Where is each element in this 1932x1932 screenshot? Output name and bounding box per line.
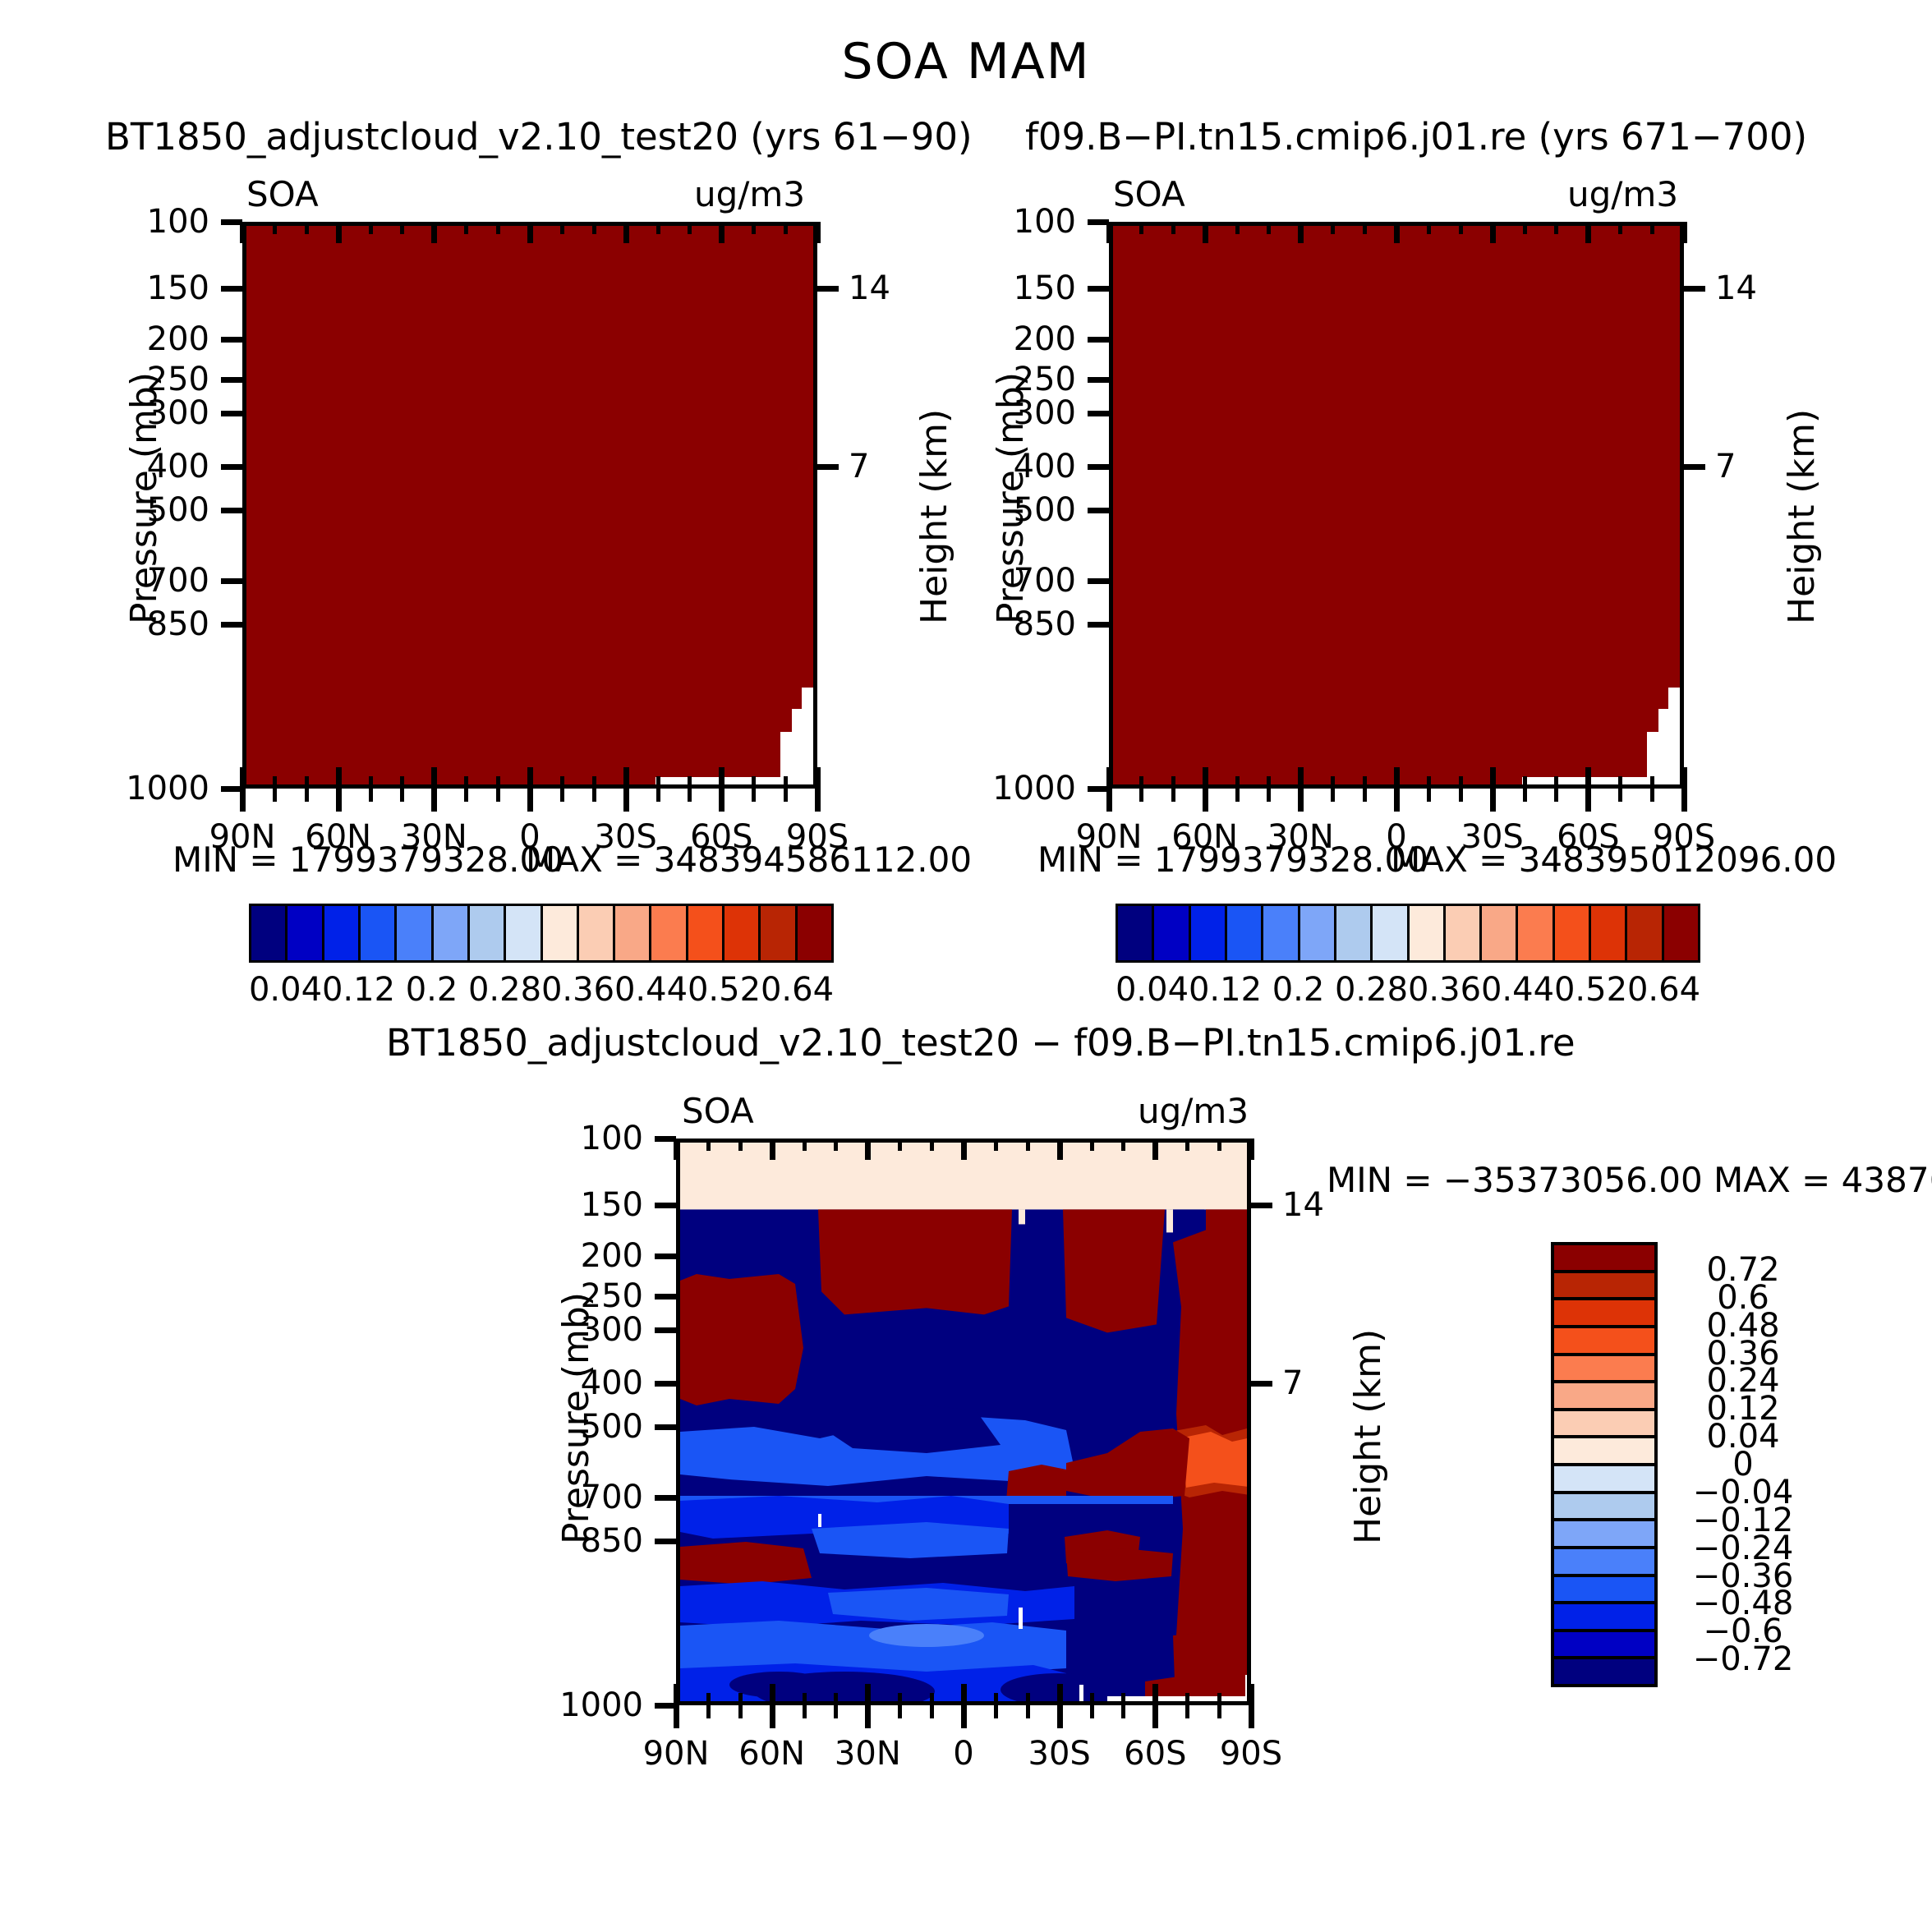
pressure-axis-tick-label: 500 (1014, 491, 1076, 529)
x-axis-minor-tick-outer (1331, 789, 1335, 802)
x-axis-minor-tick (1427, 222, 1431, 234)
x-axis-minor-tick (994, 1138, 998, 1151)
x-axis-minor-tick (706, 1138, 711, 1151)
x-axis-minor-tick (1139, 222, 1143, 234)
colorbar-swatch (615, 906, 651, 960)
x-axis-tick-label: 90S (1220, 1735, 1282, 1773)
colorbar-tick-label: 0.64 (1627, 971, 1700, 1009)
colorbar-swatch (1591, 906, 1627, 960)
diff-colorbar-labels: 0.720.60.480.360.240.120.040−0.04−0.12−0… (1661, 1242, 1825, 1687)
left-panel-terrain-mask (802, 688, 813, 784)
right-panel-terrain-mask (1658, 709, 1668, 784)
diff-panel-plot[interactable] (676, 1138, 1251, 1705)
pressure-axis-tick-label: 150 (581, 1186, 643, 1224)
pressure-axis-tick-label: 300 (581, 1311, 643, 1349)
colorbar-swatch (287, 906, 324, 960)
pressure-axis-tick-label: 300 (147, 394, 209, 432)
pressure-axis-tick (655, 1253, 676, 1259)
pressure-axis-tick (655, 1381, 676, 1387)
pressure-axis-tick-label: 150 (147, 269, 209, 307)
x-axis-tick-label: 90N (209, 818, 276, 856)
x-axis-minor-tick-outer (273, 789, 277, 802)
colorbar-tick-label: 0.36 (1408, 971, 1481, 1009)
x-axis-major-tick (961, 1138, 967, 1160)
colorbar-swatch (1554, 1604, 1654, 1632)
colorbar-swatch (651, 906, 688, 960)
colorbar-tick-label: 0.2 (406, 971, 458, 1009)
x-axis-major-tick (1152, 1138, 1158, 1160)
colorbar-tick-label: 0.52 (1554, 971, 1627, 1009)
x-axis-minor-tick (656, 222, 660, 234)
height-axis-tick (1684, 286, 1705, 292)
x-axis-minor-tick (1459, 222, 1463, 234)
x-axis-minor-tick (273, 776, 277, 789)
colorbar-swatch (1627, 906, 1663, 960)
x-axis-minor-tick (1650, 222, 1654, 234)
x-axis-tick-label: 0 (519, 818, 540, 856)
right-colorbar[interactable] (1115, 904, 1700, 963)
x-axis-tick-label: 30S (1461, 818, 1524, 856)
x-axis-minor-tick-outer (592, 789, 596, 802)
x-axis-major-tick (1249, 1684, 1254, 1705)
x-axis-minor-tick (1121, 1138, 1125, 1151)
x-axis-major-tick (815, 767, 821, 789)
colorbar-swatch (1664, 906, 1698, 960)
x-axis-minor-tick (1217, 1693, 1221, 1705)
height-axis-tick (1251, 1381, 1272, 1387)
contour-region-negative (828, 1588, 1009, 1621)
x-axis-minor-tick (1026, 1693, 1030, 1705)
pressure-axis-tick-label: 850 (147, 605, 209, 643)
colorbar-swatch (324, 906, 361, 960)
x-axis-major-tick (1203, 222, 1208, 243)
x-axis-major-tick-outer (865, 1705, 871, 1728)
x-axis-minor-tick (1363, 776, 1367, 789)
pressure-axis-tick (1088, 286, 1109, 292)
x-axis-major-tick (719, 767, 724, 789)
pressure-axis-tick-label: 200 (581, 1237, 643, 1275)
x-axis-minor-tick (656, 776, 660, 789)
pressure-axis-tick-label: 700 (1014, 562, 1076, 600)
x-axis-major-tick-outer (336, 789, 342, 812)
x-axis-major-tick-outer (1152, 1705, 1158, 1728)
x-axis-tick-label: 90S (786, 818, 849, 856)
pressure-axis-tick (655, 1424, 676, 1430)
x-axis-major-tick (1490, 767, 1496, 789)
x-axis-major-tick-outer (1106, 789, 1112, 812)
colorbar-swatch (1554, 1356, 1654, 1384)
colorbar-swatch (1191, 906, 1227, 960)
x-axis-minor-tick (496, 776, 500, 789)
x-axis-minor-tick-outer (400, 789, 404, 802)
x-axis-minor-tick-outer (1235, 789, 1240, 802)
pressure-axis-tick (1088, 337, 1109, 343)
x-axis-major-tick (770, 1138, 775, 1160)
pressure-axis-tick-label: 200 (1014, 320, 1076, 358)
diff-panel-variable-label: SOA (682, 1091, 754, 1131)
x-axis-minor-tick-outer (834, 1705, 838, 1718)
height-axis-tick (1684, 464, 1705, 470)
x-axis-tick-label: 60S (1124, 1735, 1186, 1773)
x-axis-minor-tick (1139, 776, 1143, 789)
x-axis-major-tick (527, 222, 533, 243)
pressure-axis-tick-label: 700 (147, 562, 209, 600)
x-axis-minor-tick-outer (496, 789, 500, 802)
height-axis-tick-label: 14 (1715, 269, 1757, 307)
right-panel-plot[interactable] (1109, 222, 1684, 789)
colorbar-tick-label: 0.44 (614, 971, 688, 1009)
colorbar-swatch (1300, 906, 1336, 960)
x-axis-minor-tick (1235, 776, 1240, 789)
colorbar-swatch (1554, 1466, 1654, 1494)
x-axis-major-tick (527, 767, 533, 789)
colorbar-swatch (1554, 1438, 1654, 1466)
colorbar-swatch (470, 906, 506, 960)
colorbar-swatch (1227, 906, 1263, 960)
x-axis-minor-tick (1459, 776, 1463, 789)
x-axis-minor-tick-outer (688, 789, 692, 802)
pressure-axis-tick (655, 1539, 676, 1544)
colorbar-swatch (1373, 906, 1409, 960)
x-axis-minor-tick (994, 1693, 998, 1705)
pressure-axis-tick (655, 1495, 676, 1501)
x-axis-tick-label: 30N (835, 1735, 901, 1773)
x-axis-minor-tick (688, 222, 692, 234)
x-axis-minor-tick (738, 1693, 743, 1705)
x-axis-major-tick (815, 222, 821, 243)
colorbar-swatch (1554, 1521, 1654, 1549)
colorbar-swatch (1554, 1549, 1654, 1577)
x-axis-minor-tick (273, 222, 277, 234)
pressure-axis-tick-label: 500 (581, 1408, 643, 1446)
x-axis-minor-tick (369, 222, 373, 234)
x-axis-major-tick-outer (1203, 789, 1208, 812)
x-axis-minor-tick-outer (738, 1705, 743, 1718)
x-axis-major-tick (1057, 1684, 1063, 1705)
colorbar-tick-label: 0.52 (688, 971, 761, 1009)
pressure-axis-tick (221, 286, 242, 292)
x-axis-minor-tick (1523, 222, 1527, 234)
x-axis-major-tick (865, 1684, 871, 1705)
pressure-axis-tick-label: 1000 (559, 1686, 643, 1724)
colorbar-swatch (1263, 906, 1299, 960)
x-axis-major-tick-outer (770, 1705, 775, 1728)
x-axis-minor-tick-outer (1523, 789, 1527, 802)
x-axis-minor-tick (464, 222, 468, 234)
x-axis-minor-tick (803, 1693, 807, 1705)
x-axis-major-tick (961, 1684, 967, 1705)
x-axis-major-tick (1394, 767, 1400, 789)
x-axis-tick-label: 60S (1557, 818, 1619, 856)
x-axis-major-tick (770, 1684, 775, 1705)
x-axis-major-tick (1585, 222, 1591, 243)
left-panel-plot[interactable] (242, 222, 817, 789)
pressure-axis-tick-label: 250 (581, 1277, 643, 1315)
x-axis-minor-tick-outer (1618, 789, 1622, 802)
x-axis-major-tick (1203, 767, 1208, 789)
colorbar-tick-label: 0.44 (1481, 971, 1554, 1009)
x-axis-major-tick (1585, 767, 1591, 789)
x-axis-minor-tick-outer (1090, 1705, 1094, 1718)
right-panel-terrain-mask (1522, 777, 1647, 784)
right-panel-height-axis-title: Height (km) (1781, 409, 1823, 624)
colorbar-swatch (579, 906, 615, 960)
x-axis-minor-tick-outer (1363, 789, 1367, 802)
x-axis-major-tick-outer (1490, 789, 1496, 812)
colorbar-swatch (1555, 906, 1591, 960)
x-axis-major-tick-outer (431, 789, 437, 812)
diff-panel-title: BT1850_adjustcloud_v2.10_test20 − f09.B−… (386, 1021, 1575, 1065)
pressure-axis-tick-label: 400 (581, 1364, 643, 1402)
pressure-axis-tick (1088, 411, 1109, 416)
colorbar-tick-label: −0.72 (1661, 1640, 1825, 1678)
colorbar-swatch (1118, 906, 1154, 960)
pressure-axis-tick (221, 337, 242, 343)
x-axis-minor-tick (560, 222, 564, 234)
contour-region-negative (812, 1522, 1009, 1558)
x-axis-tick-label: 60N (305, 818, 371, 856)
x-axis-minor-tick (752, 222, 756, 234)
diff-colorbar[interactable] (1551, 1242, 1658, 1687)
pressure-axis-tick (1088, 786, 1109, 792)
x-axis-minor-tick-outer (803, 1705, 807, 1718)
pressure-axis-tick (1088, 508, 1109, 513)
colorbar-tick-label: 0.04 (249, 971, 322, 1009)
pressure-axis-tick-label: 500 (147, 491, 209, 529)
contour-gap (818, 1514, 821, 1527)
x-axis-tick-label: 30S (1028, 1735, 1091, 1773)
x-axis-minor-tick-outer (1427, 789, 1431, 802)
pressure-axis-tick-label: 100 (147, 203, 209, 241)
left-panel-height-axis-title: Height (km) (913, 409, 955, 624)
diff-panel-units-label: ug/m3 (1138, 1091, 1249, 1131)
x-axis-minor-tick (1331, 776, 1335, 789)
contour-region-negative (729, 1672, 828, 1698)
x-axis-major-tick (1298, 222, 1304, 243)
terrain-mask (1107, 1696, 1247, 1704)
x-axis-minor-tick (1171, 222, 1175, 234)
x-axis-major-tick (1490, 222, 1496, 243)
pressure-axis-tick-label: 1000 (992, 770, 1076, 807)
x-axis-major-tick (431, 222, 437, 243)
x-axis-minor-tick (1331, 222, 1335, 234)
x-axis-minor-tick-outer (1650, 789, 1654, 802)
colorbar-swatch (1554, 1383, 1654, 1411)
pressure-axis-tick (221, 622, 242, 628)
x-axis-major-tick-outer (1298, 789, 1304, 812)
x-axis-minor-tick (1026, 1138, 1030, 1151)
contour-region-negative (828, 1404, 1000, 1453)
height-axis-tick-label: 14 (1282, 1186, 1324, 1224)
contour-region-negative (869, 1624, 984, 1647)
figure-title: SOA MAM (0, 33, 1932, 90)
x-axis-minor-tick (803, 1138, 807, 1151)
x-axis-minor-tick (1171, 776, 1175, 789)
height-axis-tick-label: 7 (1715, 448, 1736, 485)
right-panel-units-label: ug/m3 (1567, 174, 1678, 214)
x-axis-minor-tick-outer (1459, 789, 1463, 802)
colorbar-swatch (1518, 906, 1554, 960)
colorbar-swatch (361, 906, 397, 960)
x-axis-minor-tick (834, 1138, 838, 1151)
pressure-axis-tick-label: 1000 (126, 770, 209, 807)
pressure-axis-tick-label: 850 (1014, 605, 1076, 643)
x-axis-minor-tick (834, 1693, 838, 1705)
pressure-axis-tick (1088, 464, 1109, 470)
pressure-axis-tick-label: 250 (147, 361, 209, 398)
height-axis-tick-label: 14 (849, 269, 890, 307)
right-panel-title: f09.B−PI.tn15.cmip6.j01.re (yrs 671−700) (1025, 115, 1807, 159)
colorbar-swatch (397, 906, 433, 960)
x-axis-major-tick-outer (1394, 789, 1400, 812)
x-axis-minor-tick-outer (560, 789, 564, 802)
x-axis-minor-tick (1650, 776, 1654, 789)
x-axis-major-tick-outer (719, 789, 724, 812)
x-axis-major-tick (1152, 1684, 1158, 1705)
x-axis-major-tick (1394, 222, 1400, 243)
x-axis-major-tick-outer (527, 789, 533, 812)
x-axis-minor-tick-outer (752, 789, 756, 802)
contour-region-positive (680, 1274, 803, 1405)
pressure-axis-tick-label: 300 (1014, 394, 1076, 432)
x-axis-minor-tick-outer (1026, 1705, 1030, 1718)
x-axis-minor-tick (706, 1693, 711, 1705)
pressure-axis-tick-label: 200 (147, 320, 209, 358)
diff-panel-field (680, 1143, 1251, 1705)
left-colorbar[interactable] (249, 904, 834, 963)
x-axis-major-tick (1681, 767, 1687, 789)
x-axis-tick-label: 90N (1076, 818, 1143, 856)
height-axis-tick-label: 7 (1282, 1364, 1303, 1402)
x-axis-tick-label: 30S (595, 818, 657, 856)
x-axis-major-tick-outer (674, 1705, 679, 1728)
contour-gap (1019, 1608, 1023, 1629)
x-axis-minor-tick (898, 1138, 902, 1151)
contour-region-near-zero (1019, 1209, 1025, 1224)
colorbar-swatch (1482, 906, 1518, 960)
colorbar-swatch (761, 906, 797, 960)
colorbar-tick-label: 0.12 (322, 971, 395, 1009)
pressure-axis-tick (221, 219, 242, 225)
x-axis-major-tick (623, 767, 629, 789)
x-axis-minor-tick (400, 222, 404, 234)
contour-region-positive (1173, 1631, 1251, 1686)
pressure-axis-tick (221, 578, 242, 584)
x-axis-major-tick-outer (815, 789, 821, 812)
colorbar-tick-label: 0.36 (541, 971, 614, 1009)
x-axis-major-tick-outer (240, 789, 246, 812)
x-axis-minor-tick (1090, 1693, 1094, 1705)
x-axis-minor-tick-outer (1217, 1705, 1221, 1718)
contour-region-positive (1063, 1209, 1165, 1332)
contour-region-positive (680, 1542, 812, 1585)
colorbar-swatch (1154, 906, 1190, 960)
x-axis-tick-label: 60S (690, 818, 752, 856)
colorbar-tick-label: 0.28 (468, 971, 541, 1009)
pressure-axis-tick (1088, 578, 1109, 584)
x-axis-tick-label: 90S (1653, 818, 1715, 856)
x-axis-tick-label: 60N (738, 1735, 805, 1773)
x-axis-minor-tick (400, 776, 404, 789)
left-panel-field (246, 226, 813, 784)
right-panel-field (1113, 226, 1680, 784)
x-axis-minor-tick (592, 776, 596, 789)
x-axis-minor-tick-outer (305, 789, 309, 802)
x-axis-major-tick (1057, 1138, 1063, 1160)
x-axis-major-tick (623, 222, 629, 243)
x-axis-minor-tick (738, 1138, 743, 1151)
x-axis-minor-tick (752, 776, 756, 789)
x-axis-minor-tick-outer (1139, 789, 1143, 802)
contour-region-near-zero (1166, 1209, 1173, 1232)
colorbar-swatch (798, 906, 831, 960)
pressure-axis-tick (221, 377, 242, 383)
x-axis-minor-tick (305, 776, 309, 789)
pressure-axis-tick (655, 1703, 676, 1709)
x-axis-minor-tick (1121, 1693, 1125, 1705)
pressure-axis-tick (655, 1203, 676, 1208)
x-axis-minor-tick (369, 776, 373, 789)
contour-region-positive (1066, 1548, 1173, 1581)
pressure-axis-tick-label: 100 (1014, 203, 1076, 241)
x-axis-minor-tick (1618, 776, 1622, 789)
x-axis-minor-tick (1217, 1138, 1221, 1151)
x-axis-minor-tick-outer (464, 789, 468, 802)
x-axis-minor-tick-outer (1554, 789, 1558, 802)
right-panel-variable-label: SOA (1113, 174, 1185, 214)
colorbar-swatch (1554, 1577, 1654, 1605)
left-panel-title: BT1850_adjustcloud_v2.10_test20 (yrs 61−… (105, 115, 973, 159)
x-axis-major-tick-outer (1681, 789, 1687, 812)
colorbar-swatch (1554, 1411, 1654, 1439)
x-axis-major-tick-outer (623, 789, 629, 812)
pressure-axis-tick-label: 100 (581, 1120, 643, 1157)
x-axis-minor-tick (1267, 222, 1271, 234)
pressure-axis-tick (221, 508, 242, 513)
colorbar-swatch (1554, 1659, 1654, 1684)
x-axis-minor-tick (1427, 776, 1431, 789)
x-axis-minor-tick (1523, 776, 1527, 789)
x-axis-major-tick (431, 767, 437, 789)
x-axis-minor-tick (930, 1138, 934, 1151)
x-axis-tick-label: 30N (401, 818, 467, 856)
colorbar-swatch (434, 906, 470, 960)
colorbar-swatch (1554, 1245, 1654, 1273)
pressure-axis-tick-label: 400 (147, 448, 209, 485)
x-axis-minor-tick (784, 222, 788, 234)
colorbar-swatch (1410, 906, 1446, 960)
pressure-axis-tick (1088, 622, 1109, 628)
diff-panel-minmax-label: MIN = −35373056.00 MAX = 43876352. (1327, 1160, 1932, 1200)
pressure-axis-tick (1088, 219, 1109, 225)
pressure-axis-tick-label: 250 (1014, 361, 1076, 398)
colorbar-swatch (1446, 906, 1482, 960)
colorbar-swatch (688, 906, 724, 960)
x-axis-minor-tick-outer (994, 1705, 998, 1718)
left-panel-terrain-mask (655, 777, 780, 784)
pressure-axis-tick-label: 150 (1014, 269, 1076, 307)
colorbar-swatch (251, 906, 287, 960)
x-axis-minor-tick (1554, 776, 1558, 789)
height-axis-tick-label: 7 (849, 448, 869, 485)
colorbar-swatch (1336, 906, 1373, 960)
x-axis-minor-tick (1185, 1693, 1189, 1705)
pressure-axis-tick-label: 400 (1014, 448, 1076, 485)
left-panel-units-label: ug/m3 (694, 174, 805, 214)
x-axis-major-tick (1681, 222, 1687, 243)
x-axis-minor-tick (1090, 1138, 1094, 1151)
x-axis-major-tick (719, 222, 724, 243)
